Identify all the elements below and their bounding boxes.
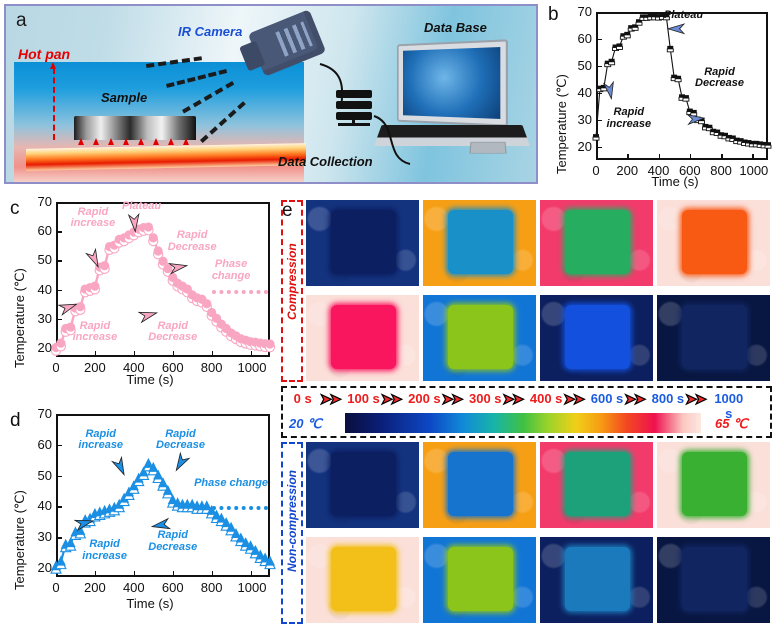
chart-annotation: Plateau [106,201,178,213]
x-tick-label: 400 [121,360,147,375]
x-tick-label: 0 [583,163,609,178]
y-tick-label: 60 [30,437,52,452]
sample-region [682,452,748,516]
timeline-arrow-icon: ➤➤ [502,390,521,408]
temperature-colorbar [345,413,701,433]
data-point [593,134,599,140]
pointer-arrow-icon [688,113,705,124]
thermal-image [657,295,770,381]
thermal-texture [423,537,536,623]
sample-region [682,210,748,274]
panel-b-y-axis-title: Temperature (℃) [554,74,570,174]
colorbar-max-label: 65 ℃ [715,416,748,432]
thermal-texture [540,442,653,528]
data-point [56,556,66,569]
phase-change-line [212,506,268,510]
y-tick-label: 50 [570,58,592,73]
chart-annotation: Rapid Decrease [143,429,219,452]
colorbar-row: 20 ℃ 65 ℃ [283,412,770,436]
thermal-image [423,295,536,381]
ir-rays-group [146,54,276,154]
y-tick-label: 30 [30,529,52,544]
thermal-texture [657,442,770,528]
thermal-texture [306,295,419,381]
non-compression-image-grid [306,442,772,624]
timeline-and-colorbar-box: 0 s➤➤100 s➤➤200 s➤➤300 s➤➤400 s➤➤600 s➤➤… [281,386,772,438]
panel-e-letter: e [282,200,293,222]
y-tick-label: 30 [570,112,592,127]
compression-group-border [281,200,303,382]
thermal-image [657,442,770,528]
thermal-image [306,200,419,286]
y-tick-label: 60 [30,223,52,238]
y-tick-label: 40 [30,282,52,297]
x-tick-label: 600 [677,163,703,178]
panel-c-letter: c [10,198,20,220]
sample-region [682,547,748,611]
x-tick-label: 200 [614,163,640,178]
x-tick-label: 600 [160,580,186,595]
thermal-texture [306,537,419,623]
thermal-image [540,442,653,528]
timeline-arrow-icon: ➤➤ [624,390,643,408]
panel-c-chart: c Temperature (℃) Time (s) 0200400600800… [0,192,282,392]
x-tick-label: 1000 [238,360,264,375]
timeline-step-label: 100 s [346,391,381,406]
x-tick-label: 0 [43,360,69,375]
chart-annotation: Rapid increase [595,107,663,130]
panel-a-schematic: a Hot pan Sample IR Camera Data Base Dat… [4,4,538,184]
x-tick-label: 800 [199,360,225,375]
sample-region [682,305,748,369]
thermal-texture [657,200,770,286]
data-point [144,222,153,234]
timeline-row: 0 s➤➤100 s➤➤200 s➤➤300 s➤➤400 s➤➤600 s➤➤… [283,390,770,410]
sample-region [331,305,397,369]
panel-b-chart: b Temperature (℃) Time (s) 0200400600800… [540,2,774,194]
y-tick-label: 70 [30,194,52,209]
y-tick-label: 40 [570,85,592,100]
thermal-image [657,200,770,286]
data-point [683,95,689,101]
x-tick-label: 400 [121,580,147,595]
chart-annotation: Phase change [195,259,267,282]
thermal-image [423,442,536,528]
sample-label: Sample [101,90,147,105]
sample-region [448,547,514,611]
chart-annotation: Rapid increase [67,539,143,562]
y-tick-label: 40 [30,498,52,513]
timeline-arrow-icon: ➤➤ [320,390,339,408]
y-tick-label: 60 [570,31,592,46]
thermal-image [540,200,653,286]
data-point [90,282,99,294]
timeline-step-label: 800 s [650,391,685,406]
thermal-texture [540,295,653,381]
compression-image-grid [306,200,772,382]
chart-annotation: Rapid increase [59,321,131,344]
data-point [765,142,771,148]
thermal-texture [306,442,419,528]
sample-region [331,547,397,611]
thermal-image [423,537,536,623]
chart-annotation: Rapid increase [63,429,139,452]
data-point [609,59,615,65]
compression-label: Compression [285,260,299,320]
connection-wires [306,46,416,176]
x-tick-label: 600 [160,360,186,375]
panel-a-letter: a [16,10,27,32]
panel-c-y-axis-title: Temperature (℃) [12,268,28,368]
sample-region [565,210,631,274]
phase-change-line [212,290,268,294]
data-point [616,43,622,49]
thermal-texture [540,200,653,286]
sample-region [565,547,631,611]
pointer-arrow-icon [668,24,684,34]
thermal-texture [540,537,653,623]
chart-annotation: Plateau [650,10,718,22]
thermal-texture [306,200,419,286]
sample-region [565,305,631,369]
ir-camera-label: IR Camera [178,24,242,39]
x-tick-label: 200 [82,360,108,375]
x-tick-label: 400 [646,163,672,178]
thermal-texture [423,295,536,381]
thermal-image [540,537,653,623]
y-tick-label: 70 [570,4,592,19]
timeline-arrow-icon: ➤➤ [380,390,399,408]
thermal-image [423,200,536,286]
thermal-image [306,295,419,381]
non-compression-group-border [281,442,303,624]
thermal-image [657,537,770,623]
timeline-step-label: 600 s [589,391,624,406]
data-base-label: Data Base [424,20,487,35]
y-tick-label: 50 [30,468,52,483]
thermal-texture [423,200,536,286]
x-tick-label: 200 [82,580,108,595]
timeline-arrow-icon: ➤➤ [441,390,460,408]
timeline-step-label: 0 s [285,391,320,406]
y-tick-label: 20 [570,139,592,154]
chart-annotation: Rapid Decrease [135,530,211,553]
hot-pan-label: Hot pan [18,46,70,62]
x-tick-label: 0 [43,580,69,595]
panel-d-letter: d [10,410,21,432]
sample-region [448,452,514,516]
thermal-texture [657,295,770,381]
thermal-image [306,537,419,623]
colorbar-min-label: 20 ℃ [289,416,322,432]
y-tick-label: 20 [30,340,52,355]
panel-d-x-axis-title: Time (s) [60,596,240,611]
x-tick-label: 1000 [739,163,765,178]
non-compression-label: Non-compression [285,492,299,572]
heat-flow-dashed-line [53,68,55,140]
y-tick-label: 30 [30,311,52,326]
chart-annotation: Rapid Decrease [686,67,754,90]
x-tick-label: 1000 [238,580,264,595]
sample-region [565,452,631,516]
timeline-step-label: 200 s [407,391,442,406]
data-point [675,76,681,82]
timeline-arrow-icon: ➤➤ [563,390,582,408]
data-point [667,46,673,52]
y-tick-label: 70 [30,406,52,421]
data-point [265,339,274,351]
chart-annotation: Rapid Decrease [156,230,228,253]
sample-region [331,210,397,274]
pointer-arrow-icon [129,214,141,232]
thermal-image [306,442,419,528]
heat-flow-arrow-icon [50,62,56,69]
panel-d-y-axis-title: Temperature (℃) [12,490,28,590]
thermal-image [540,295,653,381]
y-tick-label: 20 [30,560,52,575]
x-tick-label: 800 [708,163,734,178]
thermal-texture [657,537,770,623]
chart-annotation: Rapid Decrease [137,321,209,344]
sample-region [448,305,514,369]
sample-region [331,452,397,516]
timeline-step-label: 400 s [529,391,564,406]
thermal-texture [423,442,536,528]
sample-region [448,210,514,274]
panel-b-letter: b [548,4,559,26]
timeline-step-label: 300 s [468,391,503,406]
timeline-arrow-icon: ➤➤ [685,390,704,408]
x-tick-label: 800 [199,580,225,595]
chart-annotation: Phase change [193,478,269,490]
y-tick-label: 50 [30,252,52,267]
data-point [624,32,630,38]
panel-d-chart: d Temperature (℃) Time (s) 0200400600800… [0,400,282,626]
timeline-step-label: 1000 s [711,391,746,421]
